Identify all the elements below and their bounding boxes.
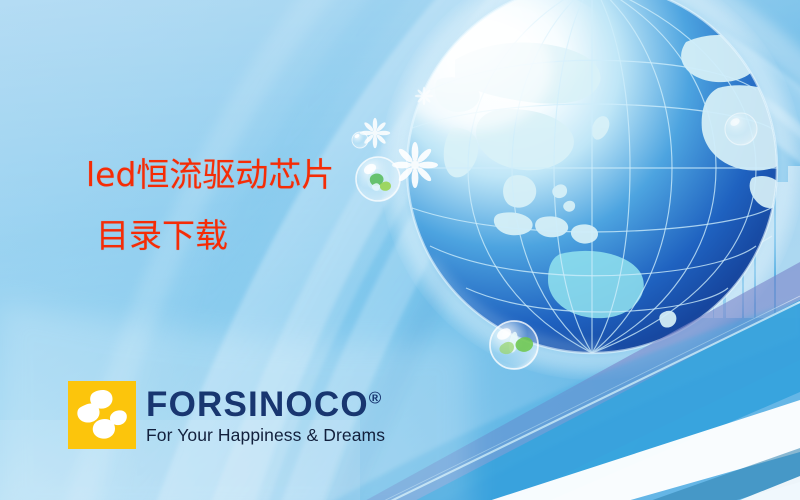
brand-logo: FORSINOCO® For Your Happiness & Dreams: [68, 381, 385, 449]
banner-root: led恒流驱动芯片 目录下载 FORSINOCO® For Your Happi…: [0, 0, 800, 500]
bubble-plain: [352, 132, 368, 148]
logo-text-group: FORSINOCO® For Your Happiness & Dreams: [146, 381, 385, 446]
registered-trademark-icon: ®: [369, 388, 382, 407]
headline-line-2: 目录下载: [96, 219, 412, 252]
bubble-leaf: [490, 321, 538, 369]
logo-tagline: For Your Happiness & Dreams: [146, 425, 385, 446]
bubble-globe-small: [725, 113, 757, 145]
forsinoco-pinwheel-icon: [68, 381, 136, 449]
headline-block: led恒流驱动芯片 目录下载: [82, 158, 412, 252]
headline-line-1: led恒流驱动芯片: [86, 158, 412, 191]
logo-wordmark-text: FORSINOCO: [146, 385, 369, 424]
logo-wordmark: FORSINOCO®: [146, 387, 385, 422]
